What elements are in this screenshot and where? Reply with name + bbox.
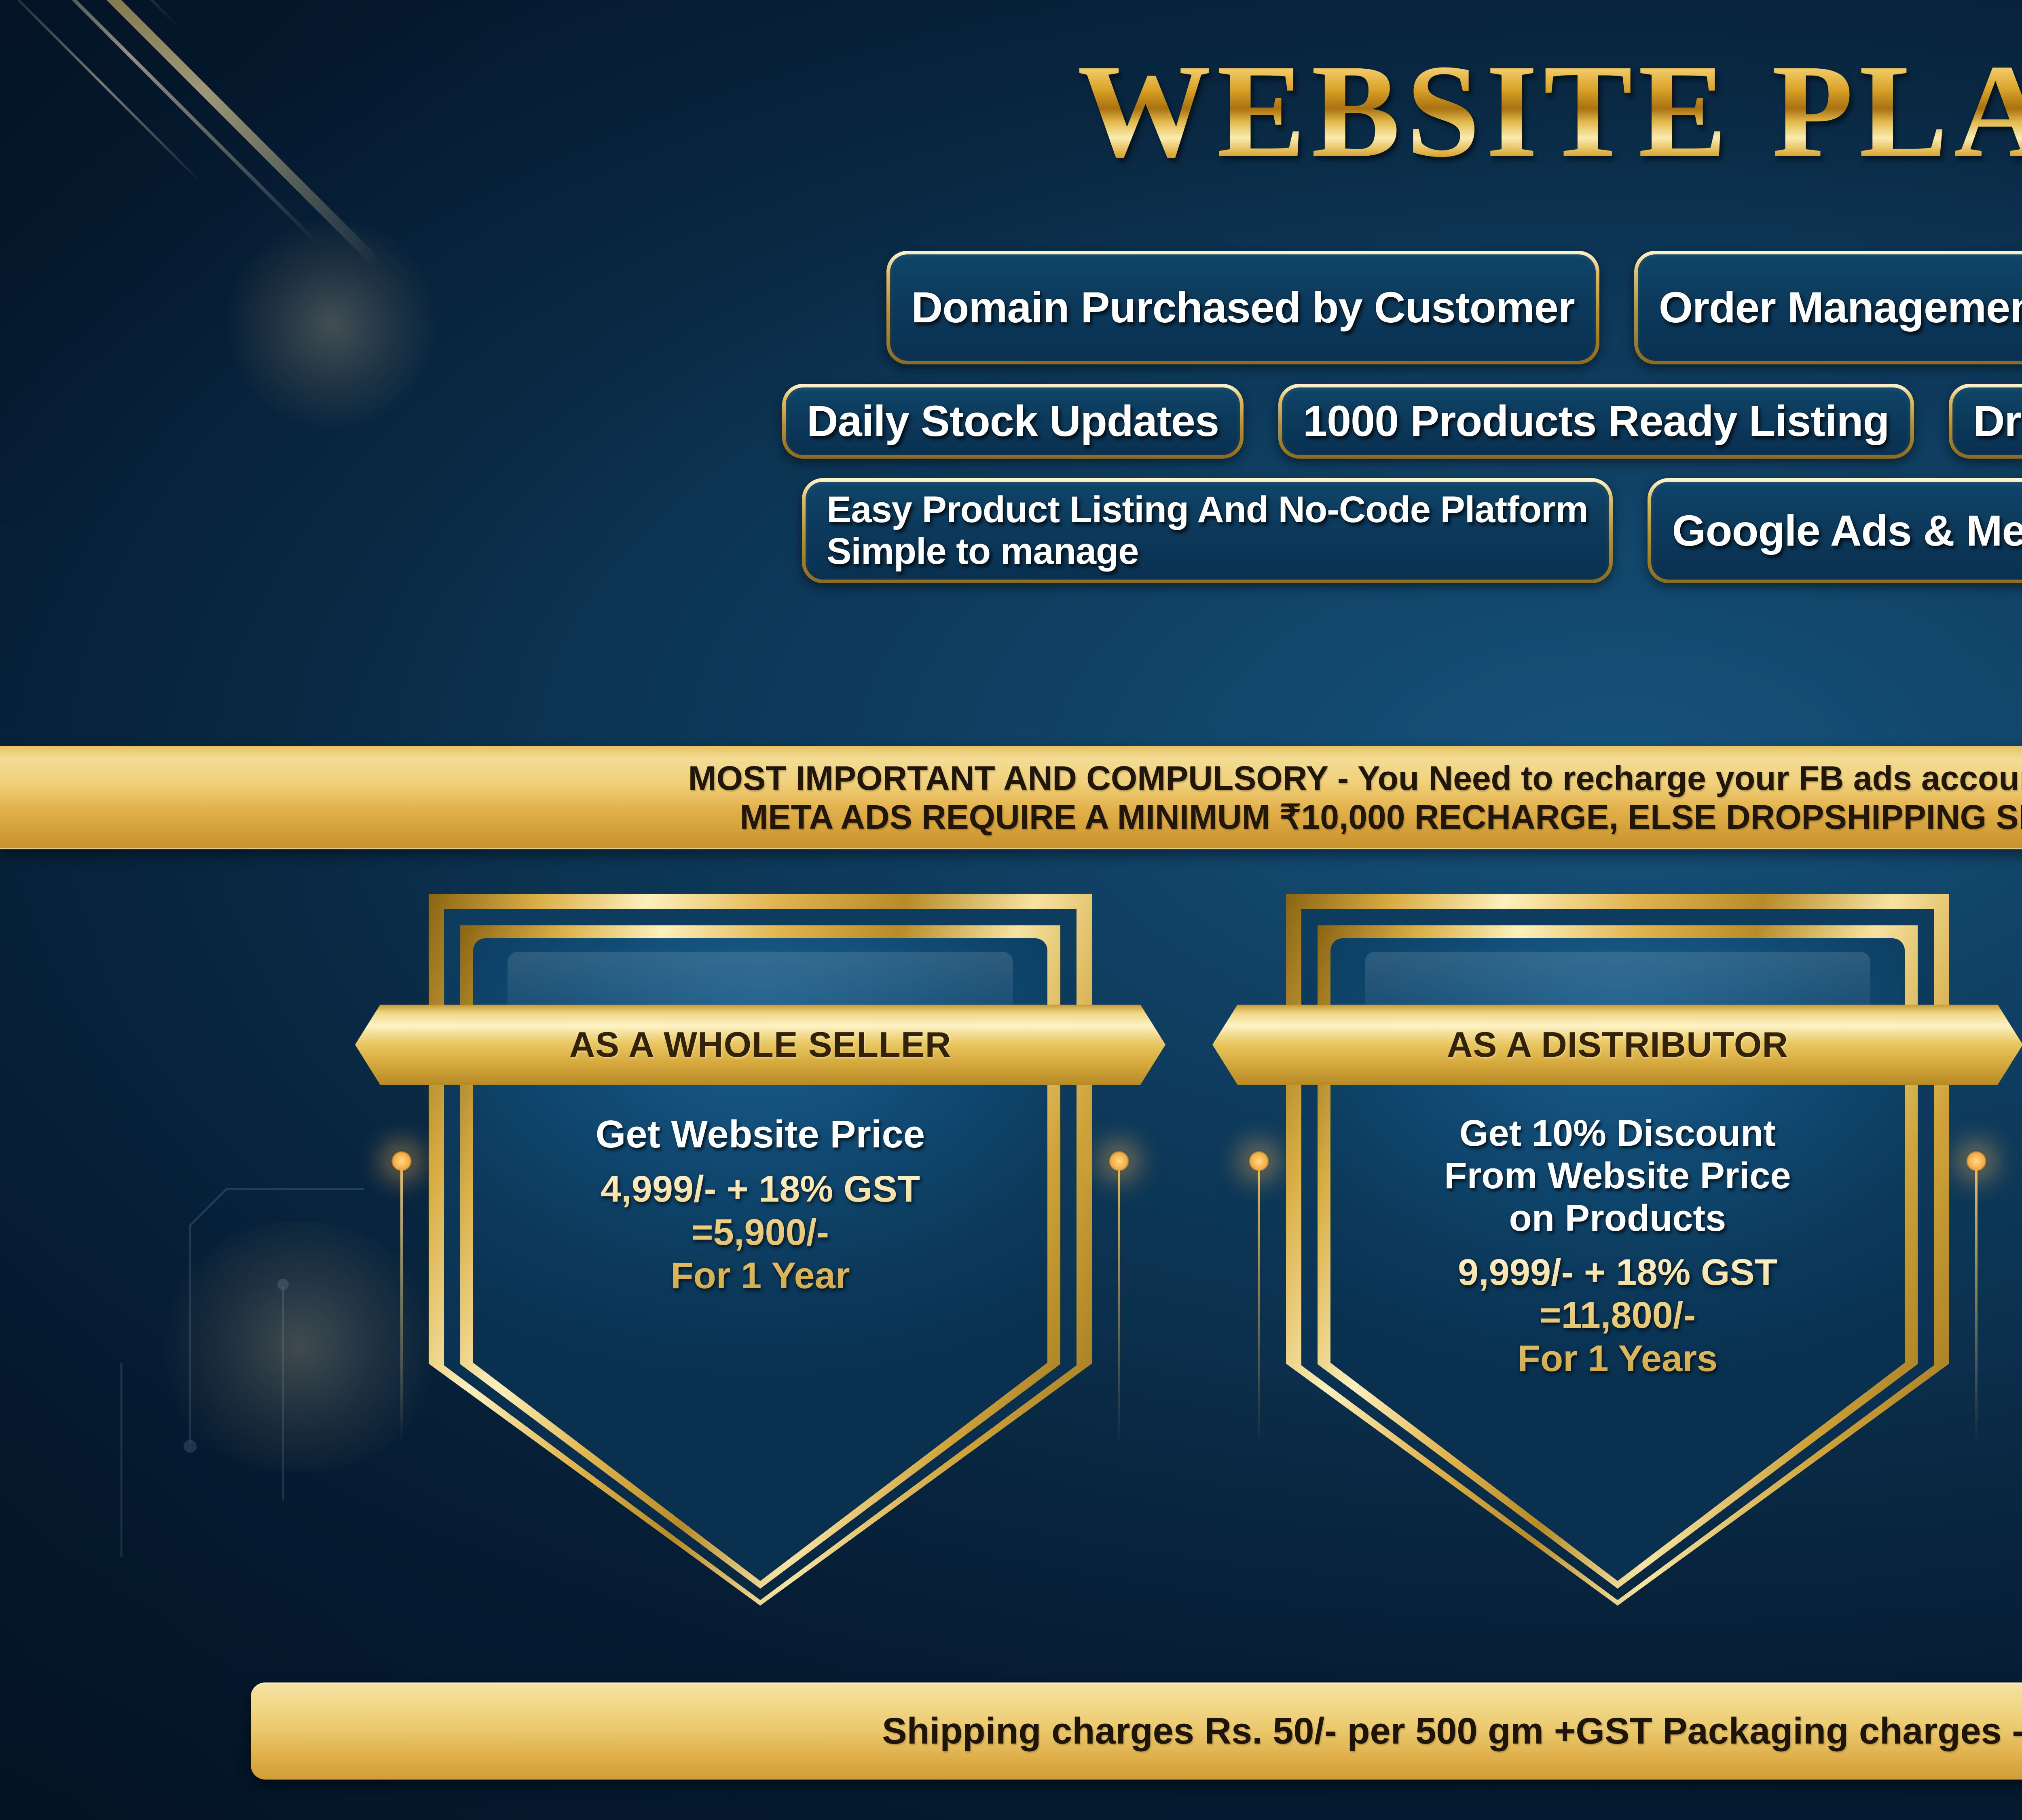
pricing-plan-cards: AS A WHOLE SELLER Get Website Price 4,99… — [0, 894, 2022, 1606]
feature-label: 1000 Products Ready Listing — [1303, 398, 1889, 444]
plan-card-whole-seller[interactable]: AS A WHOLE SELLER Get Website Price 4,99… — [392, 894, 1128, 1606]
shipping-charges-text: Shipping charges Rs. 50/- per 500 gm +GS… — [882, 1710, 2022, 1752]
feature-label: Domain Purchased by Customer — [911, 284, 1574, 330]
feature-list: Domain Purchased by Customer Order Manag… — [0, 251, 2022, 603]
feature-label: Order Management Panel — [1659, 284, 2022, 330]
page-title-text: WEBSITE PLAN — [1077, 44, 2022, 178]
plan-ribbon: AS A DISTRIBUTOR — [1212, 1005, 2022, 1085]
glow-pin-left — [400, 1161, 403, 1444]
plan-card-distributor[interactable]: AS A DISTRIBUTOR Get 10% Discount From W… — [1250, 894, 1986, 1606]
feature-label: Easy Product Listing And No-Code Platfor… — [827, 489, 1588, 572]
feature-box-product-listing[interactable]: 1000 Products Ready Listing — [1278, 384, 1914, 458]
plan-ribbon-label: AS A DISTRIBUTOR — [1447, 1024, 1788, 1065]
notice-rest: You Need to recharge your FB ads account… — [1349, 759, 2022, 797]
glow-pin-left — [1258, 1161, 1260, 1444]
important-notice-banner: MOST IMPORTANT AND COMPULSORY - You Need… — [0, 746, 2022, 849]
feature-row: Daily Stock Updates 1000 Products Ready … — [0, 384, 2022, 458]
plan-heading: Get 10% Discount From Website Price on P… — [1322, 1112, 1913, 1240]
glow-pin-right — [1118, 1161, 1120, 1444]
page-title: WEBSITE PLAN — [0, 44, 2022, 178]
notice-line-1: MOST IMPORTANT AND COMPULSORY - You Need… — [688, 759, 2022, 798]
feature-box-order-panel[interactable]: Order Management Panel No Monthly Hostin… — [1634, 251, 2022, 364]
feature-label: Dropshipping Support — [1973, 398, 2022, 444]
notice-line-2: META ADS REQUIRE A MINIMUM ₹10,000 RECHA… — [740, 798, 2022, 837]
feature-box-stock-updates[interactable]: Daily Stock Updates — [782, 384, 1244, 458]
plan-ribbon: AS A WHOLE SELLER — [355, 1005, 1165, 1085]
plan-heading: Get Website Price — [465, 1112, 1055, 1156]
glow-pin-right — [1975, 1161, 1978, 1444]
feature-label: Daily Stock Updates — [807, 398, 1219, 444]
feature-box-dropshipping[interactable]: Dropshipping Support — [1949, 384, 2022, 458]
feature-row: Easy Product Listing And No-Code Platfor… — [0, 478, 2022, 583]
plan-body: Get 10% Discount From Website Price on P… — [1322, 1112, 1913, 1380]
feature-box-ads-integration[interactable]: Google Ads & Meta Pixel Integration — [1648, 478, 2022, 583]
feature-row: Domain Purchased by Customer Order Manag… — [0, 251, 2022, 364]
notice-emphasis: MOST IMPORTANT AND COMPULSORY - — [688, 759, 1349, 797]
feature-box-domain[interactable]: Domain Purchased by Customer — [886, 251, 1599, 364]
plan-price: 4,999/- + 18% GST =5,900/- For 1 Year — [465, 1168, 1055, 1297]
shipping-charges-bar: Shipping charges Rs. 50/- per 500 gm +GS… — [251, 1682, 2022, 1780]
plan-price: 9,999/- + 18% GST =11,800/- For 1 Years — [1322, 1251, 1913, 1380]
plan-body: Get Website Price 4,999/- + 18% GST =5,9… — [465, 1112, 1055, 1297]
feature-label: Google Ads & Meta Pixel Integration — [1672, 508, 2022, 554]
plan-ribbon-label: AS A WHOLE SELLER — [569, 1024, 951, 1065]
feature-box-no-code[interactable]: Easy Product Listing And No-Code Platfor… — [802, 478, 1613, 583]
